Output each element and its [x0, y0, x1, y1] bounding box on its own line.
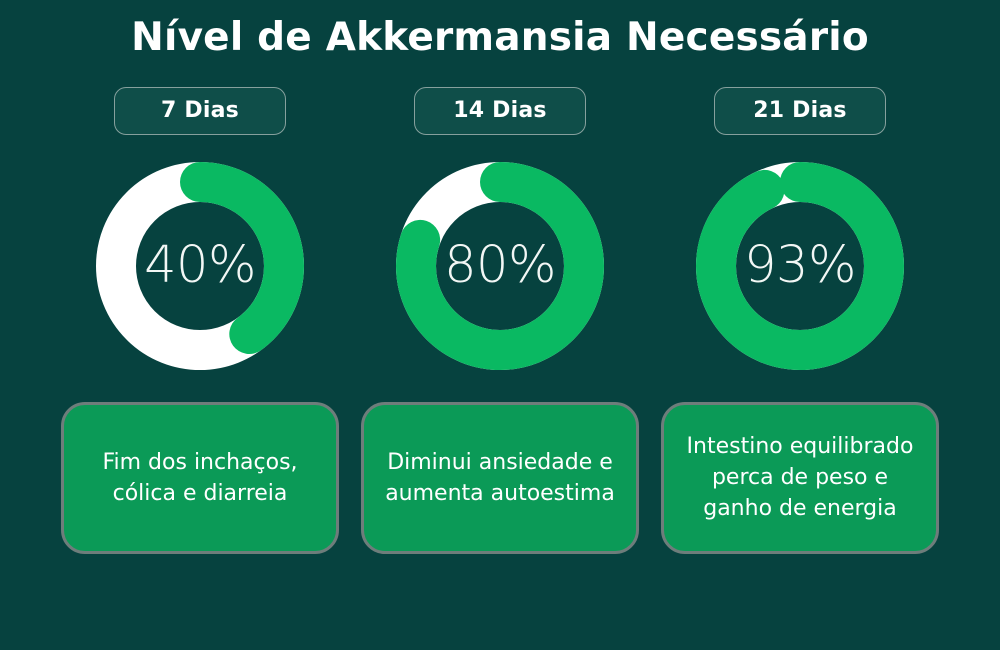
day-badge-label: 14 Dias: [453, 98, 546, 123]
columns-container: 7 Dias 40% Fim dos inchaços, cólica e di…: [0, 87, 1000, 554]
day-badge-21[interactable]: 21 Dias: [714, 87, 886, 135]
benefit-card-21: Intestino equilibrado perca de peso e ga…: [661, 402, 939, 554]
benefit-card-text: Fim dos inchaços, cólica e diarreia: [102, 447, 297, 509]
column-21-dias: 21 Dias 93% Intestino equilibrado perca …: [650, 87, 950, 554]
benefit-card-14: Diminui ansiedade e aumenta autoestima: [361, 402, 639, 554]
donut-chart-40: 40%: [96, 162, 304, 370]
donut-percent-label: 80%: [396, 162, 604, 370]
column-7-dias: 7 Dias 40% Fim dos inchaços, cólica e di…: [50, 87, 350, 554]
benefit-card-text: Intestino equilibrado perca de peso e ga…: [687, 431, 914, 525]
donut-percent-label: 40%: [96, 162, 304, 370]
donut-chart-80: 80%: [396, 162, 604, 370]
column-14-dias: 14 Dias 80% Diminui ansiedade e aumenta …: [350, 87, 650, 554]
day-badge-14[interactable]: 14 Dias: [414, 87, 586, 135]
donut-percent-label: 93%: [696, 162, 904, 370]
page-title: Nível de Akkermansia Necessário: [0, 14, 1000, 63]
day-badge-7[interactable]: 7 Dias: [114, 87, 286, 135]
benefit-card-text: Diminui ansiedade e aumenta autoestima: [385, 447, 615, 509]
day-badge-label: 21 Dias: [753, 98, 846, 123]
benefit-card-7: Fim dos inchaços, cólica e diarreia: [61, 402, 339, 554]
day-badge-label: 7 Dias: [161, 98, 239, 123]
infographic-root: Nível de Akkermansia Necessário 7 Dias 4…: [0, 0, 1000, 650]
donut-chart-93: 93%: [696, 162, 904, 370]
